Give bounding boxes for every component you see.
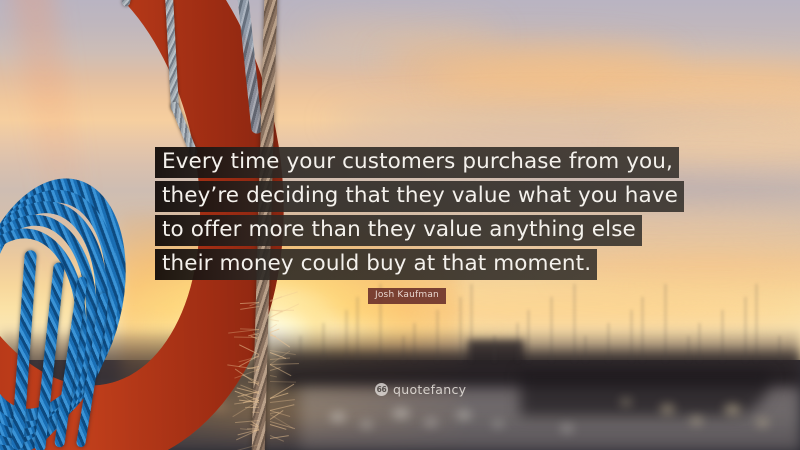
boat-mast: [722, 310, 723, 362]
quotefancy-watermark[interactable]: 66 quotefancy: [375, 383, 466, 396]
boat-mast: [414, 323, 415, 362]
quote-line: their money could buy at that moment.: [155, 249, 597, 280]
watermark-brand-label: quotefancy: [393, 383, 466, 396]
boat-mast: [756, 284, 757, 362]
boat-mast: [346, 310, 347, 362]
quote-text-block: Every time your customers purchase from …: [155, 147, 675, 283]
boat-hull-silhouette: [520, 372, 770, 416]
boat-mast: [323, 323, 324, 362]
boat-mast: [688, 336, 689, 362]
boat-mast: [631, 310, 632, 362]
boat-mast: [403, 336, 404, 362]
boat-mast: [608, 323, 609, 362]
boat-mast: [551, 297, 552, 362]
quote-line: Every time your customers purchase from …: [155, 147, 679, 178]
boat-mast: [517, 323, 518, 362]
author-attribution: Josh Kaufman: [368, 288, 446, 304]
quote-line: they’re deciding that they value what yo…: [155, 181, 684, 212]
boat-mast: [357, 297, 358, 362]
boat-mast: [642, 297, 643, 362]
quote-image: Every time your customers purchase from …: [0, 0, 800, 450]
boat-mast: [779, 336, 780, 362]
boat-mast: [494, 336, 495, 362]
quote-mark-icon: 66: [375, 383, 388, 396]
boat-mast: [574, 284, 575, 362]
boat-mast: [528, 310, 529, 362]
boat-mast: [699, 323, 700, 362]
boat-mast: [585, 336, 586, 362]
quote-line: to offer more than they value anything e…: [155, 215, 642, 246]
boat-mast: [460, 297, 461, 362]
boat-mast: [471, 284, 472, 362]
boat-mast: [745, 297, 746, 362]
boat-mast: [665, 284, 666, 362]
boat-mast: [437, 310, 438, 362]
